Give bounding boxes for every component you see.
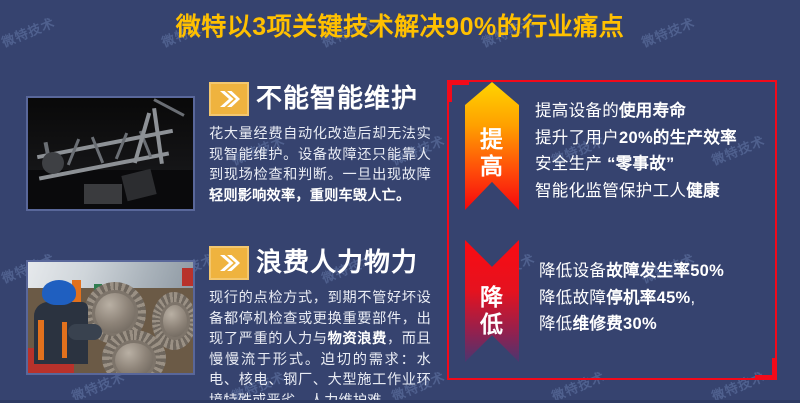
benefit-decrease-line: 降低设备故障发生率50% [539,258,724,285]
block-1-body-lead: 花大量经费自动化改造后却无法实现智能维护。设备故障还只能靠人到现场检查和判断。一… [209,126,431,183]
block-1-heading: 不能智能维护 [256,78,418,115]
ribbon-badge-increase: 提 高 [465,82,519,210]
benefit-text-plain: 提高设备的 [535,102,619,120]
benefit-text-plain: 降低故障 [539,289,606,307]
panel-corner-topleft [447,80,452,102]
panel-border-left [447,80,449,380]
slide-canvas: 微特以3项关键技术解决90%的行业痛点 [0,0,800,403]
block-1-body-emphasis: 轻则影响效率，重则车毁人亡。 [209,188,410,204]
benefit-text-plain: 提升了用户 [535,129,619,147]
benefit-text-plain: 降低设备 [539,262,606,280]
ribbon-decrease-char-1: 降 [480,284,504,311]
block-2-heading: 浪费人力物力 [256,242,418,279]
page-title-container: 微特以3项关键技术解决90%的行业痛点 [0,14,800,42]
page-title: 微特以3项关键技术解决90%的行业痛点 [176,14,624,42]
panel-border-bottom [447,378,777,380]
benefit-text-plain: 降低 [539,315,573,333]
benefit-increase-line: 提升了用户20%的生产效率 [535,125,737,152]
photo-collapsed-crane [26,96,195,211]
panel-border-right [775,80,777,380]
benefit-text-plain: 智能化监管保护工人 [535,182,686,200]
double-chevron-right-icon [209,246,249,280]
benefit-text-bold: 健康 [686,182,720,200]
panel-corner-bottomright [772,358,777,380]
left-column: 不能智能维护 花大量经费自动化改造后却无法实现智能维护。设备故障还只能靠人到现场… [0,74,440,403]
benefit-increase-line: 安全生产 “零事故” [535,151,737,178]
block-2-body: 现行的点检方式，到期不管好坏设备都停机检查或更换重要部件，出现了严重的人力与物资… [209,288,431,403]
benefit-text-bold: 故障发生率50% [606,262,724,280]
block-2-body-emphasis: 物资浪费 [328,331,387,347]
benefits-decrease-list: 降低设备故障发生率50% 降低故障停机率45%, 降低维修费30% [539,258,724,338]
benefit-decrease-line: 降低故障停机率45%, [539,285,724,312]
ribbon-increase-char-1: 提 [480,126,504,153]
benefit-decrease-line: 降低维修费30% [539,311,724,338]
benefits-increase-list: 提高设备的使用寿命 提升了用户20%的生产效率 安全生产 “零事故” 智能化监管… [535,98,737,205]
photo-worker-gears [26,260,195,375]
benefit-text-bold: 维修费30% [573,315,657,333]
benefit-text-bold: 使用寿命 [619,102,686,120]
benefits-panel: 提 高 降 低 提高设备的使用寿命 提升了用户20%的生产效率 安全生产 “零事… [447,80,777,380]
benefit-increase-line: 智能化监管保护工人健康 [535,178,737,205]
benefit-text-plain: 安全生产 [535,155,602,173]
double-chevron-right-icon [209,82,249,116]
benefit-text-bold: “零事故” [602,155,674,173]
ribbon-decrease-char-2: 低 [480,311,504,338]
benefit-text-bold: 20%的生产效率 [619,129,737,147]
benefit-text-tail: , [691,289,696,307]
benefit-text-bold: 停机率45% [606,289,690,307]
benefit-increase-line: 提高设备的使用寿命 [535,98,737,125]
block-1-body: 花大量经费自动化改造后却无法实现智能维护。设备故障还只能靠人到现场检查和判断。一… [209,124,431,206]
ribbon-increase-char-2: 高 [480,153,504,180]
ribbon-badge-decrease: 降 低 [465,240,519,362]
panel-border-top [447,80,777,82]
